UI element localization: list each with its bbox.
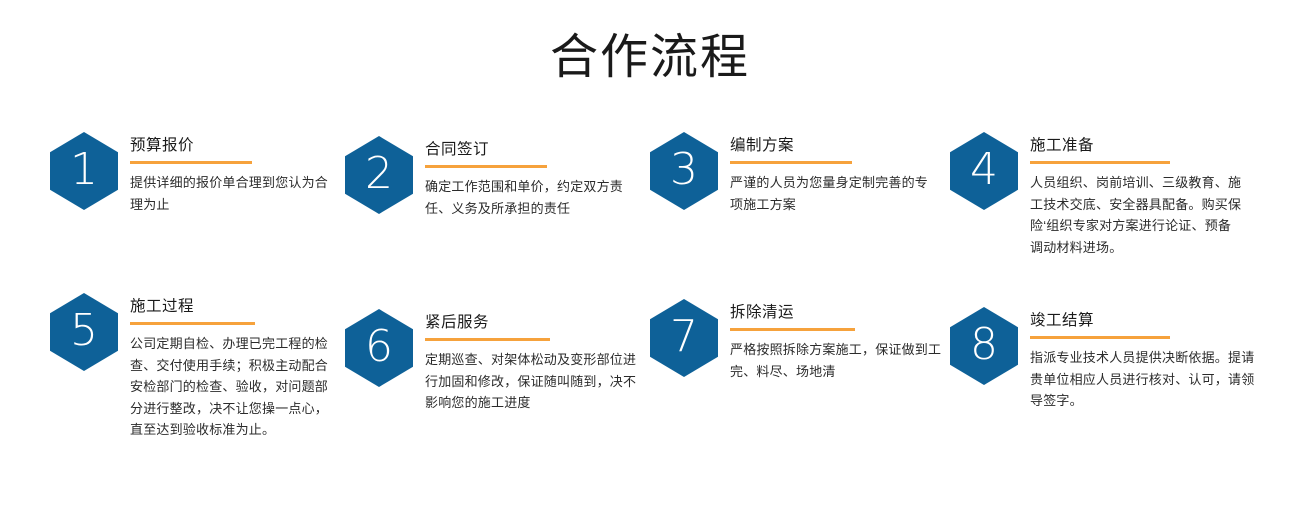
hexagon-badge-6: 6: [345, 309, 413, 387]
title-underline-3: [730, 161, 852, 164]
step-title-7: 拆除清运: [730, 303, 945, 322]
title-underline-2: [425, 165, 547, 168]
step-description-6: 定期巡查、对架体松动及变形部位进行加固和修改，保证随叫随到，决不影响您的施工进度: [425, 349, 637, 413]
step-description-2: 确定工作范围和单价，约定双方责任、义务及所承担的责任: [425, 176, 637, 219]
title-underline-4: [1030, 161, 1170, 164]
step-description-8: 指派专业技术人员提供决断依据。提请贵单位相应人员进行核对、认可，请领导签字。: [1030, 347, 1260, 411]
step-number-1: 1: [70, 148, 98, 192]
step-title-5: 施工过程: [130, 297, 340, 316]
steps-row-2: 5 施工过程 公司定期自检、办理已完工程的检查、交付使用手续；积极主动配合安检部…: [0, 293, 1300, 493]
step-body-4: 施工准备 人员组织、岗前培训、三级教育、施工技术交底、安全器具配备。购买保险‘组…: [1030, 132, 1250, 258]
step-title-8: 竣工结算: [1030, 311, 1250, 330]
step-title-1: 预算报价: [130, 136, 340, 155]
title-underline-6: [425, 338, 550, 341]
step-item-2[interactable]: 2 合同签订 确定工作范围和单价，约定双方责任、义务及所承担的责任: [345, 136, 645, 219]
hexagon-badge-8: 8: [950, 307, 1018, 385]
step-description-1: 提供详细的报价单合理到您认为合理为止: [130, 172, 335, 215]
step-body-2: 合同签订 确定工作范围和单价，约定双方责任、义务及所承担的责任: [425, 136, 645, 219]
step-title-6: 紧后服务: [425, 313, 645, 332]
step-number-7: 7: [670, 315, 698, 359]
steps-row-1: 1 预算报价 提供详细的报价单合理到您认为合理为止 2 合同签订 确定工作范围和…: [0, 118, 1300, 293]
step-body-3: 编制方案 严谨的人员为您量身定制完善的专项施工方案: [730, 132, 945, 215]
step-number-3: 3: [670, 148, 698, 192]
step-item-1[interactable]: 1 预算报价 提供详细的报价单合理到您认为合理为止: [50, 132, 340, 215]
step-number-8: 8: [970, 323, 998, 367]
title-underline-1: [130, 161, 252, 164]
page-title: 合作流程: [0, 0, 1300, 82]
step-item-3[interactable]: 3 编制方案 严谨的人员为您量身定制完善的专项施工方案: [650, 132, 945, 215]
step-number-4: 4: [970, 148, 998, 192]
step-number-2: 2: [365, 152, 393, 196]
hexagon-badge-7: 7: [650, 299, 718, 377]
title-underline-8: [1030, 336, 1170, 339]
step-item-7[interactable]: 7 拆除清运 严格按照拆除方案施工，保证做到工完、料尽、场地清: [650, 299, 945, 382]
step-item-5[interactable]: 5 施工过程 公司定期自检、办理已完工程的检查、交付使用手续；积极主动配合安检部…: [50, 293, 340, 441]
step-item-8[interactable]: 8 竣工结算 指派专业技术人员提供决断依据。提请贵单位相应人员进行核对、认可，请…: [950, 307, 1250, 412]
steps-grid: 1 预算报价 提供详细的报价单合理到您认为合理为止 2 合同签订 确定工作范围和…: [0, 118, 1300, 493]
hexagon-badge-4: 4: [950, 132, 1018, 210]
cooperation-process-infographic: { "title": "合作流程", "theme": { "hex_color…: [0, 0, 1300, 532]
hexagon-badge-5: 5: [50, 293, 118, 371]
step-number-6: 6: [365, 325, 393, 369]
step-body-7: 拆除清运 严格按照拆除方案施工，保证做到工完、料尽、场地清: [730, 299, 945, 382]
step-description-7: 严格按照拆除方案施工，保证做到工完、料尽、场地清: [730, 339, 942, 382]
step-body-1: 预算报价 提供详细的报价单合理到您认为合理为止: [130, 132, 340, 215]
step-description-4: 人员组织、岗前培训、三级教育、施工技术交底、安全器具配备。购买保险‘组织专家对方…: [1030, 172, 1242, 258]
title-underline-5: [130, 322, 255, 325]
hexagon-badge-1: 1: [50, 132, 118, 210]
step-title-4: 施工准备: [1030, 136, 1250, 155]
step-item-6[interactable]: 6 紧后服务 定期巡查、对架体松动及变形部位进行加固和修改，保证随叫随到，决不影…: [345, 309, 645, 414]
hexagon-badge-3: 3: [650, 132, 718, 210]
title-underline-7: [730, 328, 855, 331]
step-body-6: 紧后服务 定期巡查、对架体松动及变形部位进行加固和修改，保证随叫随到，决不影响您…: [425, 309, 645, 414]
step-body-5: 施工过程 公司定期自检、办理已完工程的检查、交付使用手续；积极主动配合安检部门的…: [130, 293, 340, 441]
step-description-5: 公司定期自检、办理已完工程的检查、交付使用手续；积极主动配合安检部门的检查、验收…: [130, 333, 335, 440]
step-number-5: 5: [70, 309, 98, 353]
step-item-4[interactable]: 4 施工准备 人员组织、岗前培训、三级教育、施工技术交底、安全器具配备。购买保险…: [950, 132, 1250, 258]
step-body-8: 竣工结算 指派专业技术人员提供决断依据。提请贵单位相应人员进行核对、认可，请领导…: [1030, 307, 1250, 412]
step-description-3: 严谨的人员为您量身定制完善的专项施工方案: [730, 172, 935, 215]
step-title-2: 合同签订: [425, 140, 645, 159]
hexagon-badge-2: 2: [345, 136, 413, 214]
step-title-3: 编制方案: [730, 136, 945, 155]
